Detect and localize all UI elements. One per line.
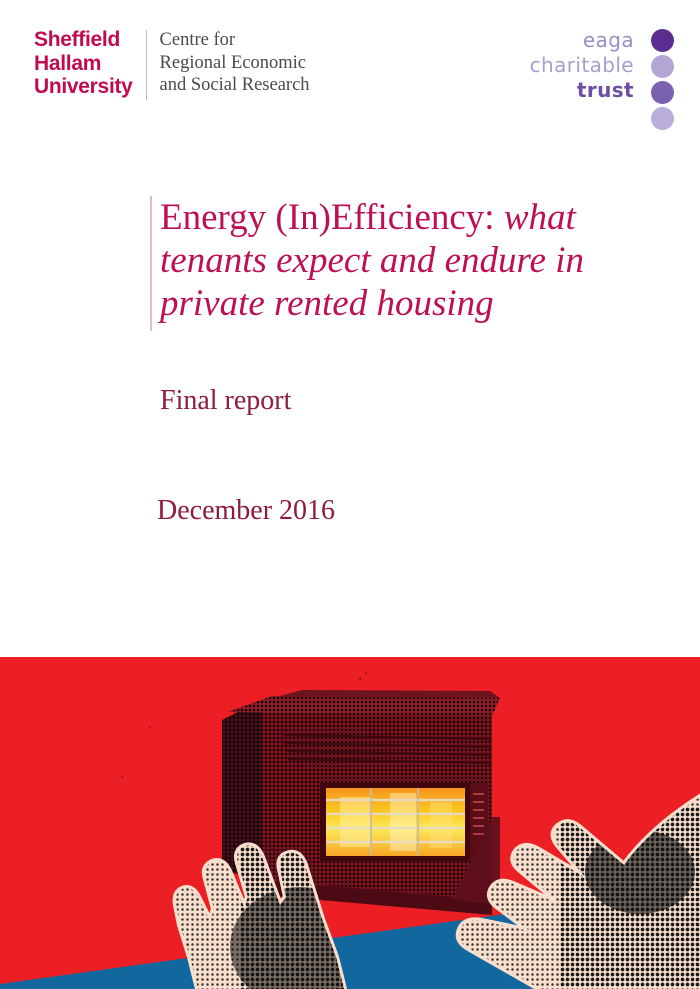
eaga-dot-1 <box>651 29 674 52</box>
title-accent-rule <box>150 196 152 331</box>
university-wordmark: Sheffield Hallam University <box>34 28 133 99</box>
eaga-wordmark: eaga charitable trust <box>530 28 634 103</box>
cover-illustration <box>0 657 700 989</box>
page-title: Energy (In)Efficiency: what tenants expe… <box>150 196 650 325</box>
eaga-dot-2 <box>651 55 674 78</box>
eaga-dot-4 <box>651 107 674 130</box>
eaga-logo-line-2: charitable <box>530 53 634 78</box>
logo-divider <box>146 30 147 100</box>
report-date: December 2016 <box>157 494 335 528</box>
eaga-logo-line-3: trust <box>530 78 634 103</box>
eaga-dot-3 <box>651 81 674 104</box>
title-block: Energy (In)Efficiency: what tenants expe… <box>150 196 650 325</box>
page-title-upright: Energy (In)Efficiency: <box>160 197 495 238</box>
research-centre-name: Centre for Regional Economic and Social … <box>160 28 310 97</box>
eaga-dots-icon <box>651 29 674 133</box>
page-header: Sheffield Hallam University Centre for R… <box>0 0 700 150</box>
eaga-charitable-trust-logo: eaga charitable trust <box>534 28 674 128</box>
report-cover-page: Sheffield Hallam University Centre for R… <box>0 0 700 989</box>
report-subtitle: Final report <box>160 384 291 418</box>
heater-vent-ridge <box>276 690 500 698</box>
sheffield-hallam-university-logo: Sheffield Hallam University Centre for R… <box>34 28 310 100</box>
eaga-logo-line-1: eaga <box>530 28 634 53</box>
cover-illustration-svg <box>0 657 700 989</box>
